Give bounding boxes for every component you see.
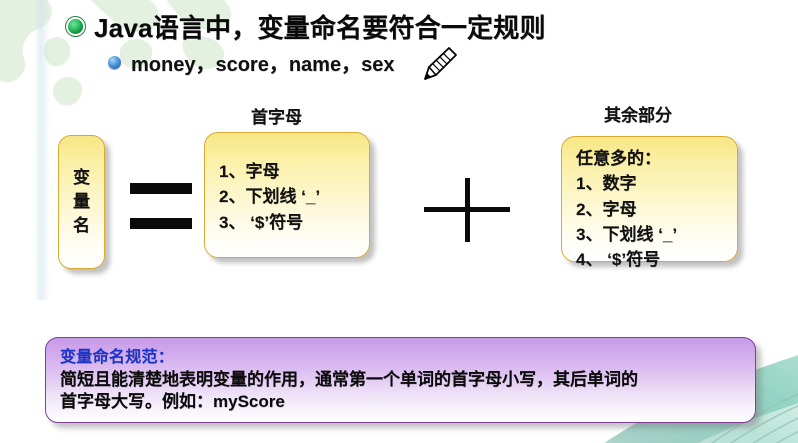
list-item: 3、 ‘$’符号	[219, 210, 369, 235]
equals-sign-glyph	[130, 183, 192, 229]
green-ring-bullet-icon	[68, 19, 83, 34]
note-body-line-2: 首字母大写。例如：myScore	[60, 391, 741, 414]
naming-convention-note-box: 变量命名规范： 简短且能清楚地表明变量的作用，通常第一个单词的首字母小写，其后单…	[45, 337, 756, 423]
plus-sign-glyph	[424, 178, 510, 242]
rest-part-rules-box: 任意多的： 1、数字 2、字母 3、下划线 ‘_’ 4、 ‘$’符号	[561, 136, 738, 262]
list-item: 2、下划线 ‘_’	[219, 184, 369, 209]
note-body-line-1: 简短且能清楚地表明变量的作用，通常第一个单词的首字母小写，其后单词的	[60, 369, 741, 392]
note-title: 变量命名规范：	[60, 347, 741, 369]
caption-rest-part: 其余部分	[604, 101, 672, 126]
blue-sphere-bullet-icon	[108, 56, 121, 69]
slide-title-row: Java语言中，变量命名要符合一定规则	[68, 8, 546, 45]
first-letter-rules-box: 1、字母 2、下划线 ‘_’ 3、 ‘$’符号	[204, 132, 370, 258]
left-light-band	[34, 0, 50, 300]
list-item: 2、字母	[576, 197, 737, 222]
rest-part-heading: 任意多的：	[576, 146, 737, 171]
list-item: 4、 ‘$’符号	[576, 247, 737, 272]
slide-subtitle: money，score，name，sex	[131, 48, 394, 77]
variable-name-label: 变量名	[73, 166, 90, 238]
list-item: 1、字母	[219, 159, 369, 184]
slide-canvas: Java语言中，变量命名要符合一定规则 money，score，name，sex…	[0, 0, 798, 443]
variable-name-box: 变量名	[58, 135, 105, 269]
page-title: Java语言中，变量命名要符合一定规则	[94, 8, 546, 45]
caption-first-letter: 首字母	[251, 103, 302, 128]
list-item: 3、下划线 ‘_’	[576, 222, 737, 247]
first-letter-rules-list: 1、字母 2、下划线 ‘_’ 3、 ‘$’符号	[219, 159, 369, 235]
slide-subtitle-row: money，score，name，sex	[108, 48, 394, 77]
pen-cursor-icon	[418, 42, 462, 86]
list-item: 1、数字	[576, 171, 737, 196]
rest-part-rules-list: 任意多的： 1、数字 2、字母 3、下划线 ‘_’ 4、 ‘$’符号	[576, 146, 737, 273]
